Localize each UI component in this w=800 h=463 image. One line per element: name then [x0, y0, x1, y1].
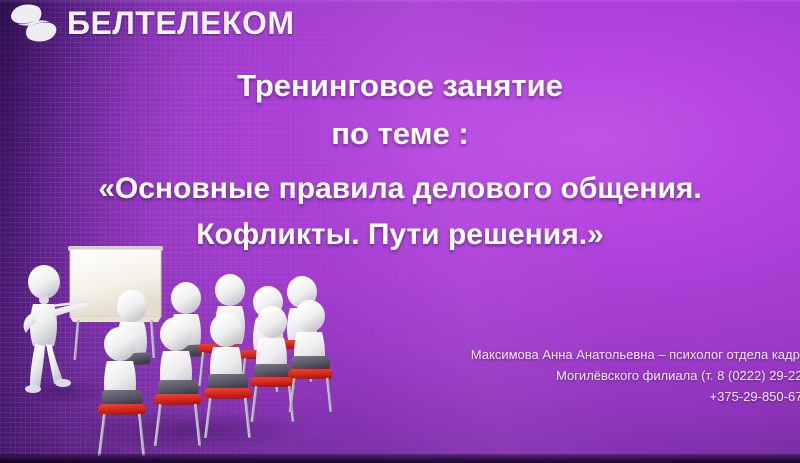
slide-title: Тренинговое занятие по теме :	[0, 62, 800, 158]
slide-title-line-2: по теме :	[0, 110, 800, 158]
beltelecom-swirl-icon	[8, 2, 60, 44]
training-session-illustration	[2, 234, 332, 459]
slide-bottom-edge-band	[0, 454, 800, 463]
presenter-name-and-role: Максимова Анна Анатольевна – психолог от…	[384, 344, 800, 365]
presentation-slide: БЕЛТЕЛЕКОМ Тренинговое занятие по теме :…	[0, 0, 800, 463]
beltelecom-wordmark: БЕЛТЕЛЕКОМ	[67, 7, 295, 39]
beltelecom-logo: БЕЛТЕЛЕКОМ	[8, 2, 295, 44]
presenter-credit: Максимова Анна Анатольевна – психолог от…	[384, 344, 800, 407]
branch-and-office-phone: Могилёвского филиала (т. 8 (0222) 29-22-…	[384, 365, 800, 386]
mobile-phone: +375-29-850-67-6	[384, 386, 800, 407]
slide-subject-line-1: «Основные правила делового общения.	[0, 166, 800, 212]
slide-title-line-1: Тренинговое занятие	[0, 62, 800, 110]
